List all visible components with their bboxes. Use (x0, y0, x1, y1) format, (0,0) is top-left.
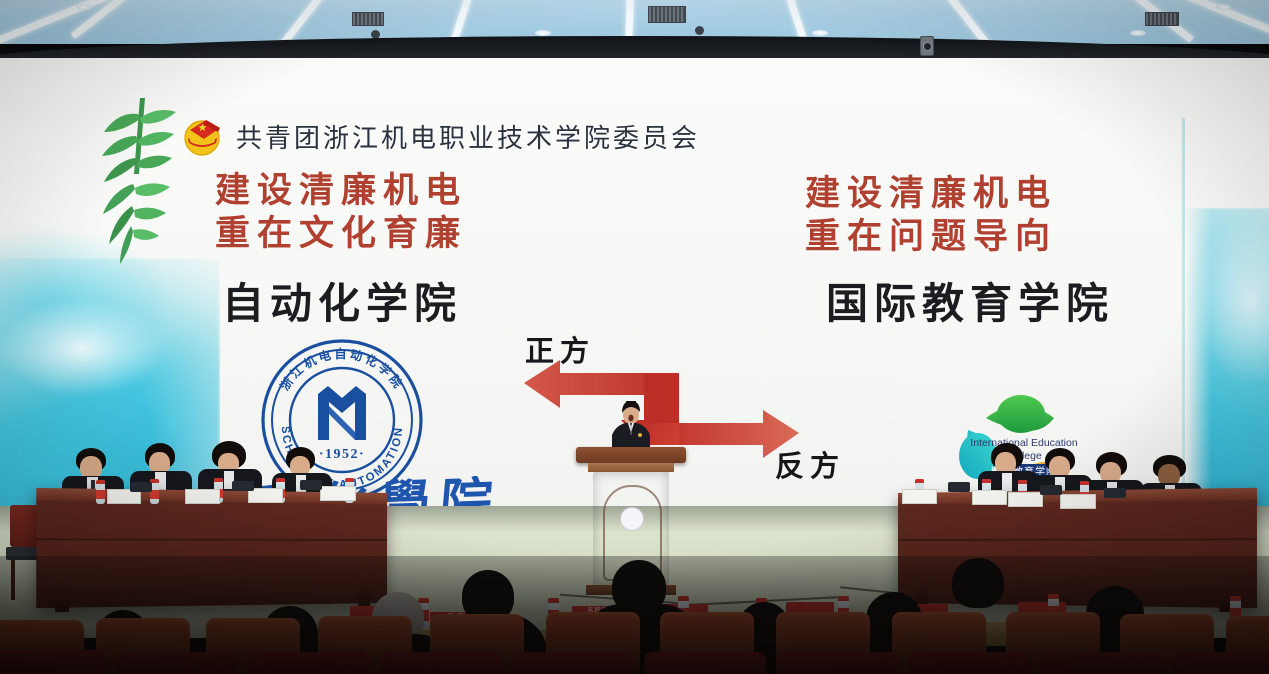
ceiling-vent (648, 6, 686, 23)
audience-foreground: 王 雄 朱跃明 (0, 556, 1269, 674)
left-slogan-line1: 建设清廉机电 (215, 171, 467, 210)
automation-logo-cn: 浙江机电自动化学院 (277, 346, 408, 393)
right-slogan-line1: 建设清廉机电 (805, 174, 1057, 213)
ceiling-downlight (1130, 30, 1146, 36)
right-slogan-line2: 重在问题导向 (805, 216, 1057, 259)
school-crest (620, 507, 644, 531)
right-college-name: 国际教育学院 (826, 270, 1114, 331)
left-slogan-line2: 重在文化育廉 (215, 213, 467, 256)
ceiling-downlight (812, 30, 828, 36)
organization-header: 共青团浙江机电职业技术学院委员会 (180, 114, 700, 158)
ceiling-downlight (76, 4, 92, 10)
microphone (1104, 488, 1126, 498)
ceiling-speaker (695, 26, 704, 35)
ceiling-vent (352, 12, 384, 26)
microphone (300, 480, 322, 490)
left-college-name: 自动化学院 (222, 270, 462, 331)
microphone (232, 481, 254, 491)
microphone (130, 482, 152, 492)
right-slogan: 建设清廉机电 重在问题导向 (805, 173, 1057, 258)
name-card (1008, 492, 1043, 507)
ceiling-light-strip (0, 0, 116, 44)
foreground-shadow (0, 556, 1269, 674)
microphone (948, 482, 970, 492)
name-card (902, 489, 937, 504)
podium-top (576, 447, 686, 463)
name-card (320, 486, 356, 501)
ceiling-light-strip (270, 0, 349, 44)
speaker-at-podium (606, 401, 656, 453)
ceiling-downlight (1215, 4, 1231, 10)
name-card (1060, 494, 1096, 509)
z-shaped-double-arrow (524, 358, 799, 458)
podium-neck (588, 463, 674, 472)
svg-text:浙江机电自动化学院: 浙江机电自动化学院 (277, 346, 408, 393)
organization-title: 共青团浙江机电职业技术学院委员会 (236, 118, 700, 155)
left-slogan: 建设清廉机电 重在文化育廉 (215, 170, 467, 255)
microphone (1040, 485, 1062, 495)
name-card (185, 489, 220, 504)
security-camera (920, 36, 934, 56)
name-card (972, 490, 1007, 505)
ceiling-vent (1145, 12, 1179, 26)
water-bottle (96, 480, 105, 504)
photo-scene: 共青团浙江机电职业技术学院委员会 建设清廉机电 重在文化育廉 自动化学院 建设清… (0, 0, 1269, 674)
communist-youth-league-emblem (180, 114, 224, 158)
ceiling-downlight (535, 30, 551, 36)
